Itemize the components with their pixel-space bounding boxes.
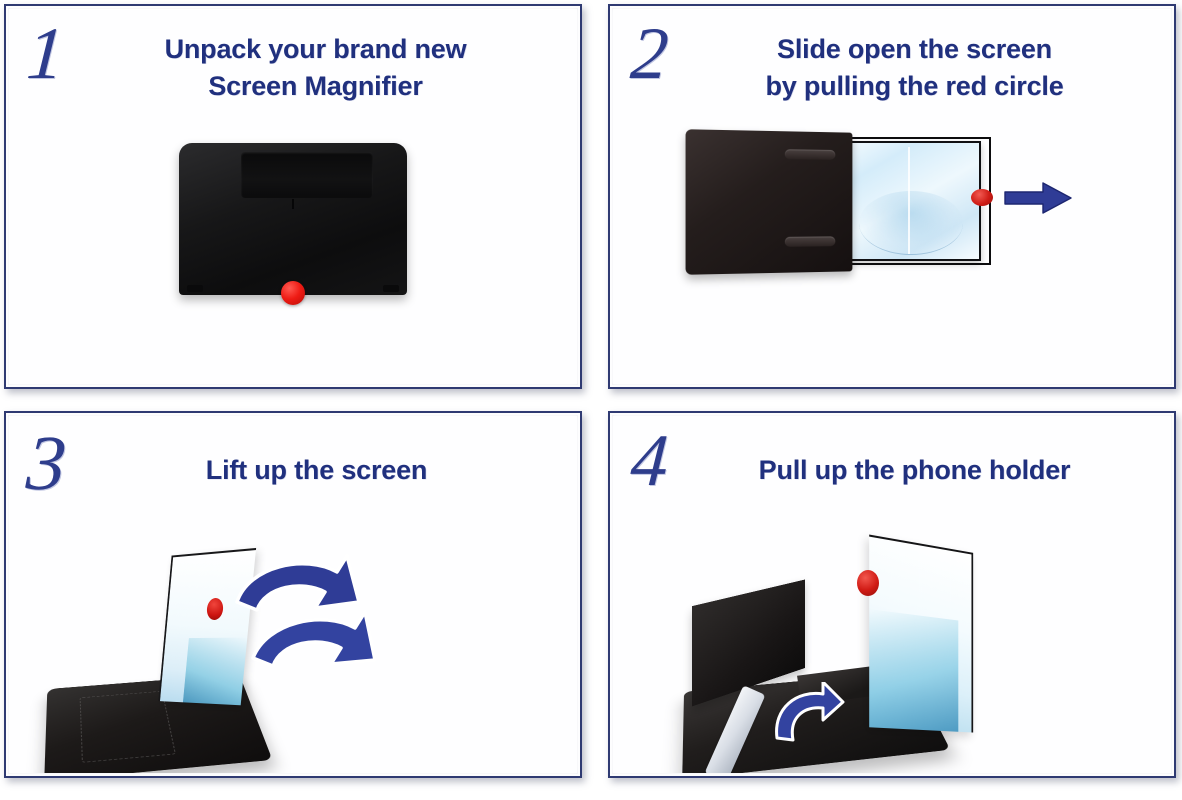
- step-panel-1-inner: 1 Unpack your brand new Screen Magnifier: [9, 9, 577, 384]
- device-foot-right: [383, 285, 399, 292]
- step-4-title: Pull up the phone holder: [668, 430, 1161, 489]
- step-1-header: 1 Unpack your brand new Screen Magnifier: [9, 9, 577, 106]
- device-seam: [292, 199, 294, 209]
- step-2-title-line2: by pulling the red circle: [668, 68, 1161, 105]
- device-foot-left: [187, 285, 203, 292]
- magnifier-screen-lifting-icon: [39, 546, 369, 773]
- step-panel-3: 3 Lift up the screen: [4, 411, 582, 778]
- magnifier-with-phone-holder-icon: [671, 536, 1071, 773]
- step-3-artwork: [9, 524, 577, 773]
- red-circle-pull-tab-icon: [857, 570, 879, 596]
- step-3-title-line1: Lift up the screen: [206, 455, 427, 485]
- step-2-header: 2 Slide open the screen by pulling the r…: [613, 9, 1171, 106]
- step-panel-1: 1 Unpack your brand new Screen Magnifier: [4, 4, 582, 389]
- step-3-header: 3 Lift up the screen: [9, 416, 577, 500]
- panel-grid: 1 Unpack your brand new Screen Magnifier: [0, 0, 1182, 800]
- device-slot: [241, 152, 373, 198]
- step-2-title: Slide open the screen by pulling the red…: [668, 23, 1161, 106]
- step-panel-3-inner: 3 Lift up the screen: [9, 416, 577, 773]
- curved-up-arrow-icon: [767, 682, 845, 748]
- right-arrow-icon: [1003, 181, 1073, 215]
- step-1-title: Unpack your brand new Screen Magnifier: [64, 23, 567, 106]
- step-4-header: 4 Pull up the phone holder: [613, 416, 1171, 496]
- step-number-3: 3: [24, 426, 68, 500]
- device-notch-bottom: [785, 236, 835, 246]
- step-1-title-line1: Unpack your brand new: [165, 34, 467, 64]
- step-panel-4-inner: 4 Pull up the phone holder: [613, 416, 1171, 773]
- step-4-artwork: [613, 524, 1171, 773]
- step-number-1: 1: [25, 19, 67, 89]
- magnifier-slid-open-icon: [673, 125, 1073, 305]
- device-notch-top: [785, 149, 835, 160]
- curved-up-arrows-icon: [219, 550, 379, 700]
- magnifier-screen: [869, 535, 973, 733]
- step-number-2: 2: [629, 19, 671, 89]
- device-base-panel: [79, 691, 175, 763]
- red-circle-pull-tab-icon: [971, 189, 993, 206]
- step-1-title-line2: Screen Magnifier: [64, 68, 567, 105]
- step-2-title-line1: Slide open the screen: [777, 34, 1052, 64]
- closed-magnifier-device-icon: [179, 143, 407, 295]
- red-circle-pull-tab-icon: [281, 281, 305, 305]
- step-panel-2: 2 Slide open the screen by pulling the r…: [608, 4, 1176, 389]
- magnifier-lens: [841, 141, 981, 261]
- step-number-4: 4: [629, 426, 671, 496]
- step-4-title-line1: Pull up the phone holder: [759, 455, 1071, 485]
- step-1-artwork: [9, 117, 577, 384]
- instruction-infographic: 1 Unpack your brand new Screen Magnifier: [0, 0, 1182, 800]
- step-panel-4: 4 Pull up the phone holder: [608, 411, 1176, 778]
- device-body: [686, 129, 853, 275]
- step-2-artwork: [613, 117, 1171, 384]
- step-3-title: Lift up the screen: [66, 430, 567, 489]
- step-panel-2-inner: 2 Slide open the screen by pulling the r…: [613, 9, 1171, 384]
- screen-tint: [869, 609, 958, 732]
